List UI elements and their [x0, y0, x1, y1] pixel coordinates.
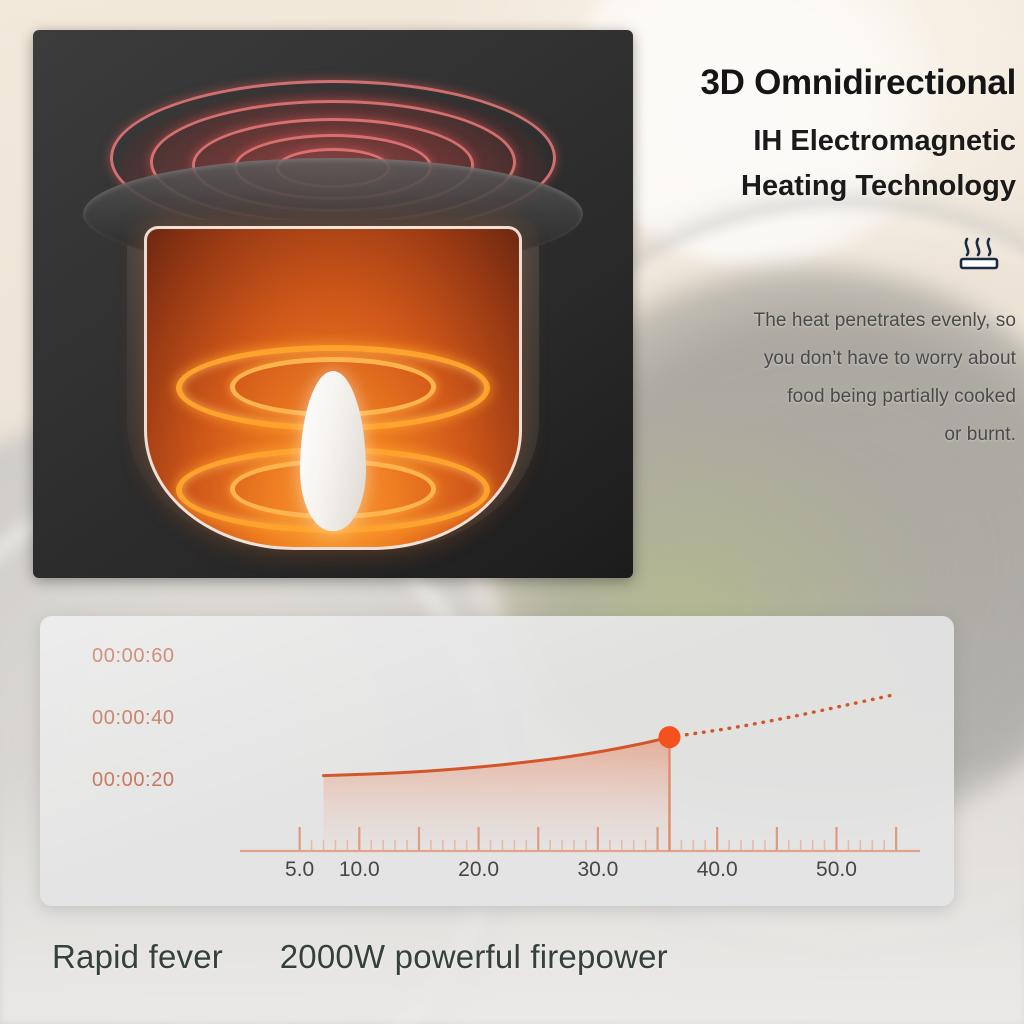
caption-right: 2000W powerful firepower [280, 938, 668, 975]
x-tick-label: 10.0 [339, 858, 380, 882]
inner-pot-cutaway [144, 226, 522, 550]
chart-marker-dot [658, 726, 680, 748]
chart-area-fill [324, 737, 670, 851]
x-tick-label: 30.0 [577, 858, 618, 882]
steam-icon [956, 231, 1002, 276]
x-tick-label: 40.0 [697, 858, 738, 882]
product-feature-page: 3D Omnidirectional IH Electromagnetic He… [0, 0, 1024, 1024]
headline-primary: 3D Omnidirectional [648, 62, 1016, 103]
x-tick-label: 5.0 [285, 858, 314, 882]
chart-curve-projected [670, 694, 897, 737]
description-line-1: The heat penetrates evenly, so [648, 302, 1016, 340]
headline-secondary-line1: IH Electromagnetic [648, 119, 1016, 164]
heating-illustration-panel [33, 30, 633, 578]
feature-text-column: 3D Omnidirectional IH Electromagnetic He… [648, 62, 1016, 454]
caption-left: Rapid fever [52, 938, 223, 975]
x-tick-label: 50.0 [816, 858, 857, 882]
headline-secondary-line2: Heating Technology [648, 164, 1016, 209]
description-line-4: or burnt. [648, 416, 1016, 454]
description-line-2: you don’t have to worry about [648, 340, 1016, 378]
feature-description: The heat penetrates evenly, so you don’t… [648, 302, 1016, 454]
x-tick-label: 20.0 [458, 858, 499, 882]
bottom-caption: Rapid fever 2000W powerful firepower [52, 938, 668, 976]
description-line-3: food being partially cooked [648, 378, 1016, 416]
heating-speed-chart-card: 00:00:60 00:00:40 00:00:20 5.010.020.030… [40, 616, 954, 906]
chart-x-axis-labels: 5.010.020.030.040.050.0 [40, 858, 954, 888]
